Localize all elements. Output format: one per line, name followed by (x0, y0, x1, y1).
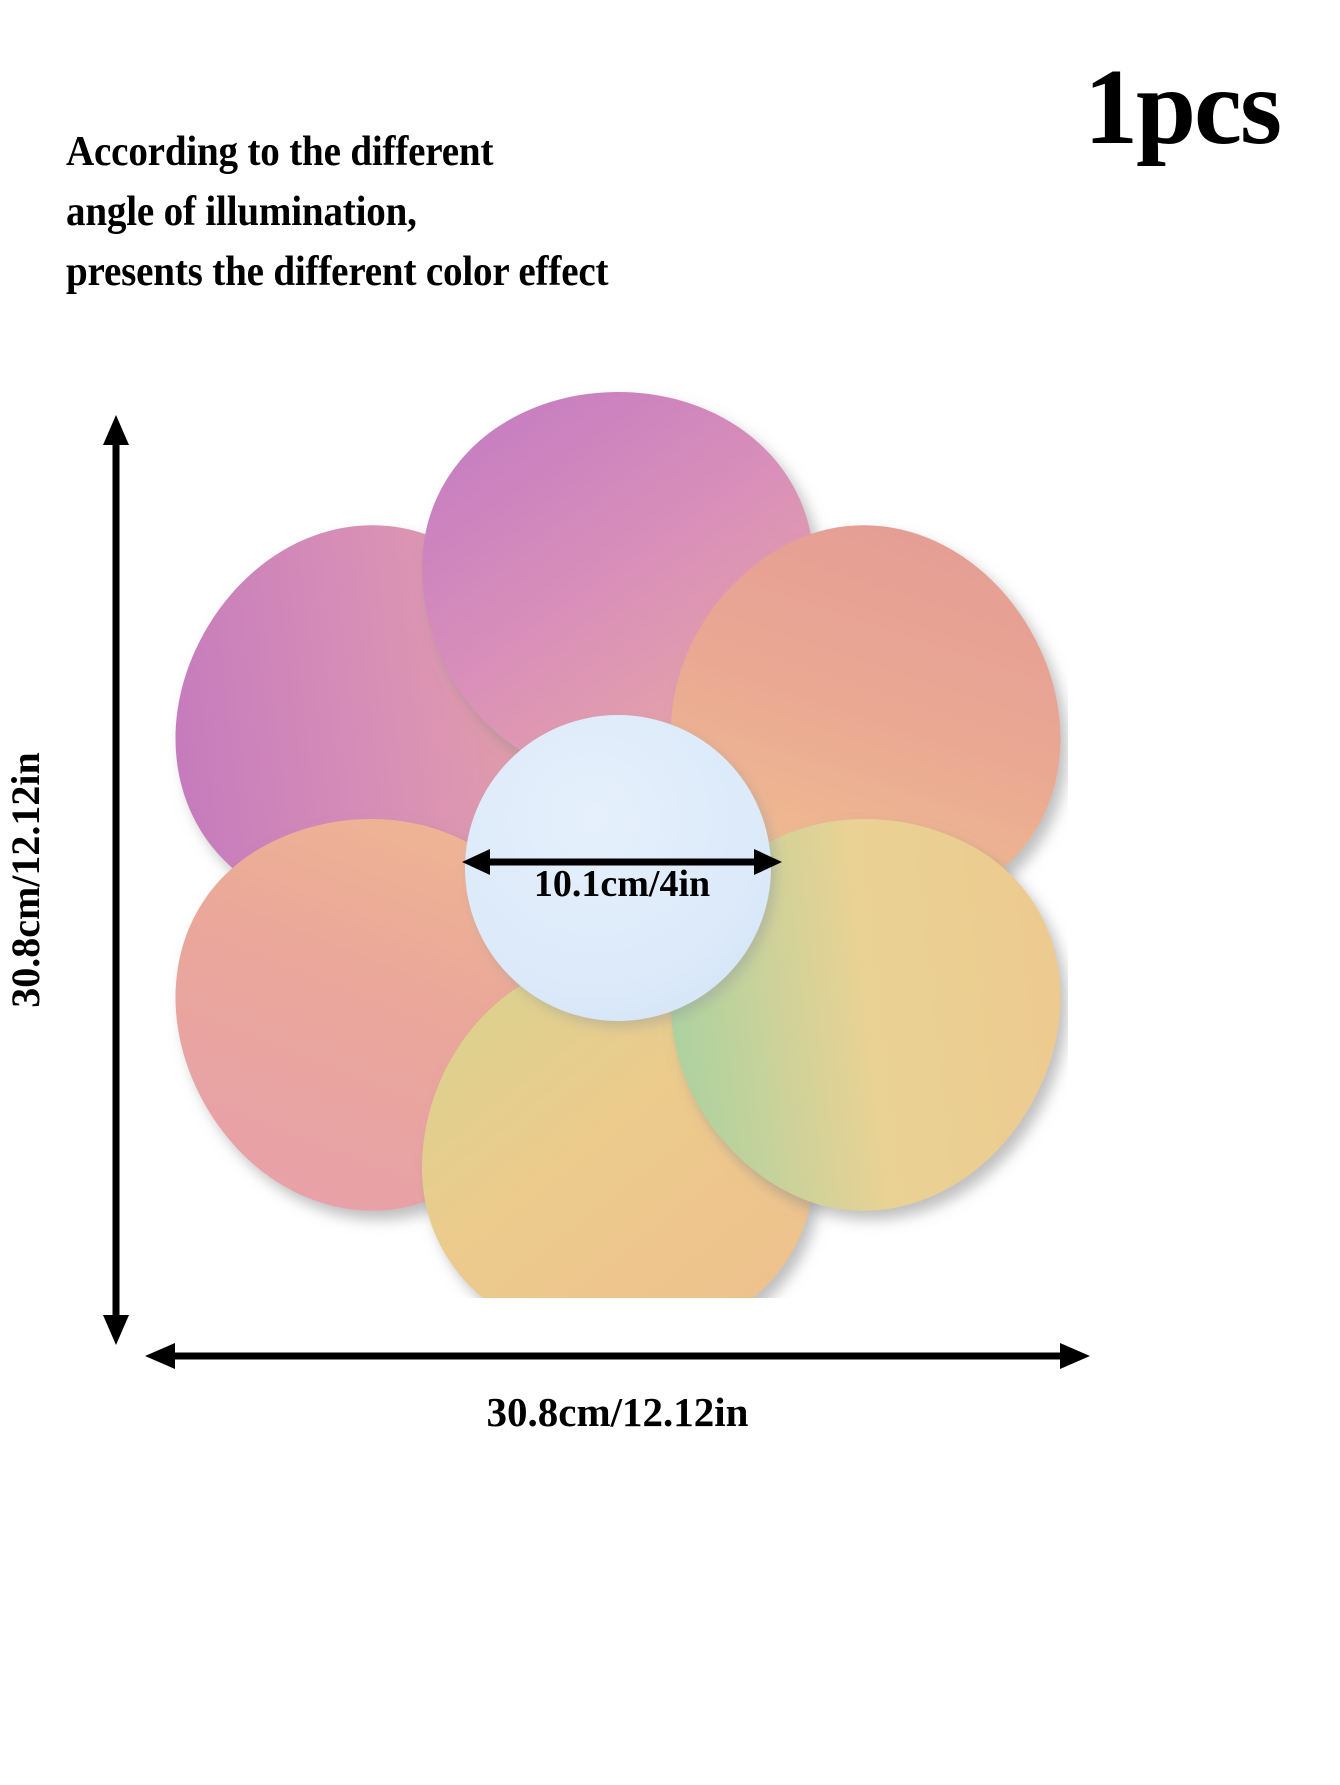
height-dimension-arrow (96, 415, 136, 1345)
headline-line-2: angle of illumination, (66, 182, 847, 242)
width-dimension-label: 30.8cm/12.12in (145, 1388, 1090, 1436)
quantity-badge: 1pcs (1084, 52, 1280, 164)
product-flower-graphic (168, 368, 1068, 1298)
headline-line-1: According to the different (66, 122, 847, 182)
center-diameter-label: 10.1cm/4in (452, 862, 792, 906)
height-dimension-label: 30.8cm/12.12in (6, 415, 46, 1345)
width-dimension-arrow (145, 1336, 1090, 1376)
headline-text-block: According to the different angle of illu… (66, 122, 906, 302)
height-dimension-label-wrap: 30.8cm/12.12in (18, 415, 78, 1345)
headline-line-3: presents the different color effect (66, 242, 847, 302)
